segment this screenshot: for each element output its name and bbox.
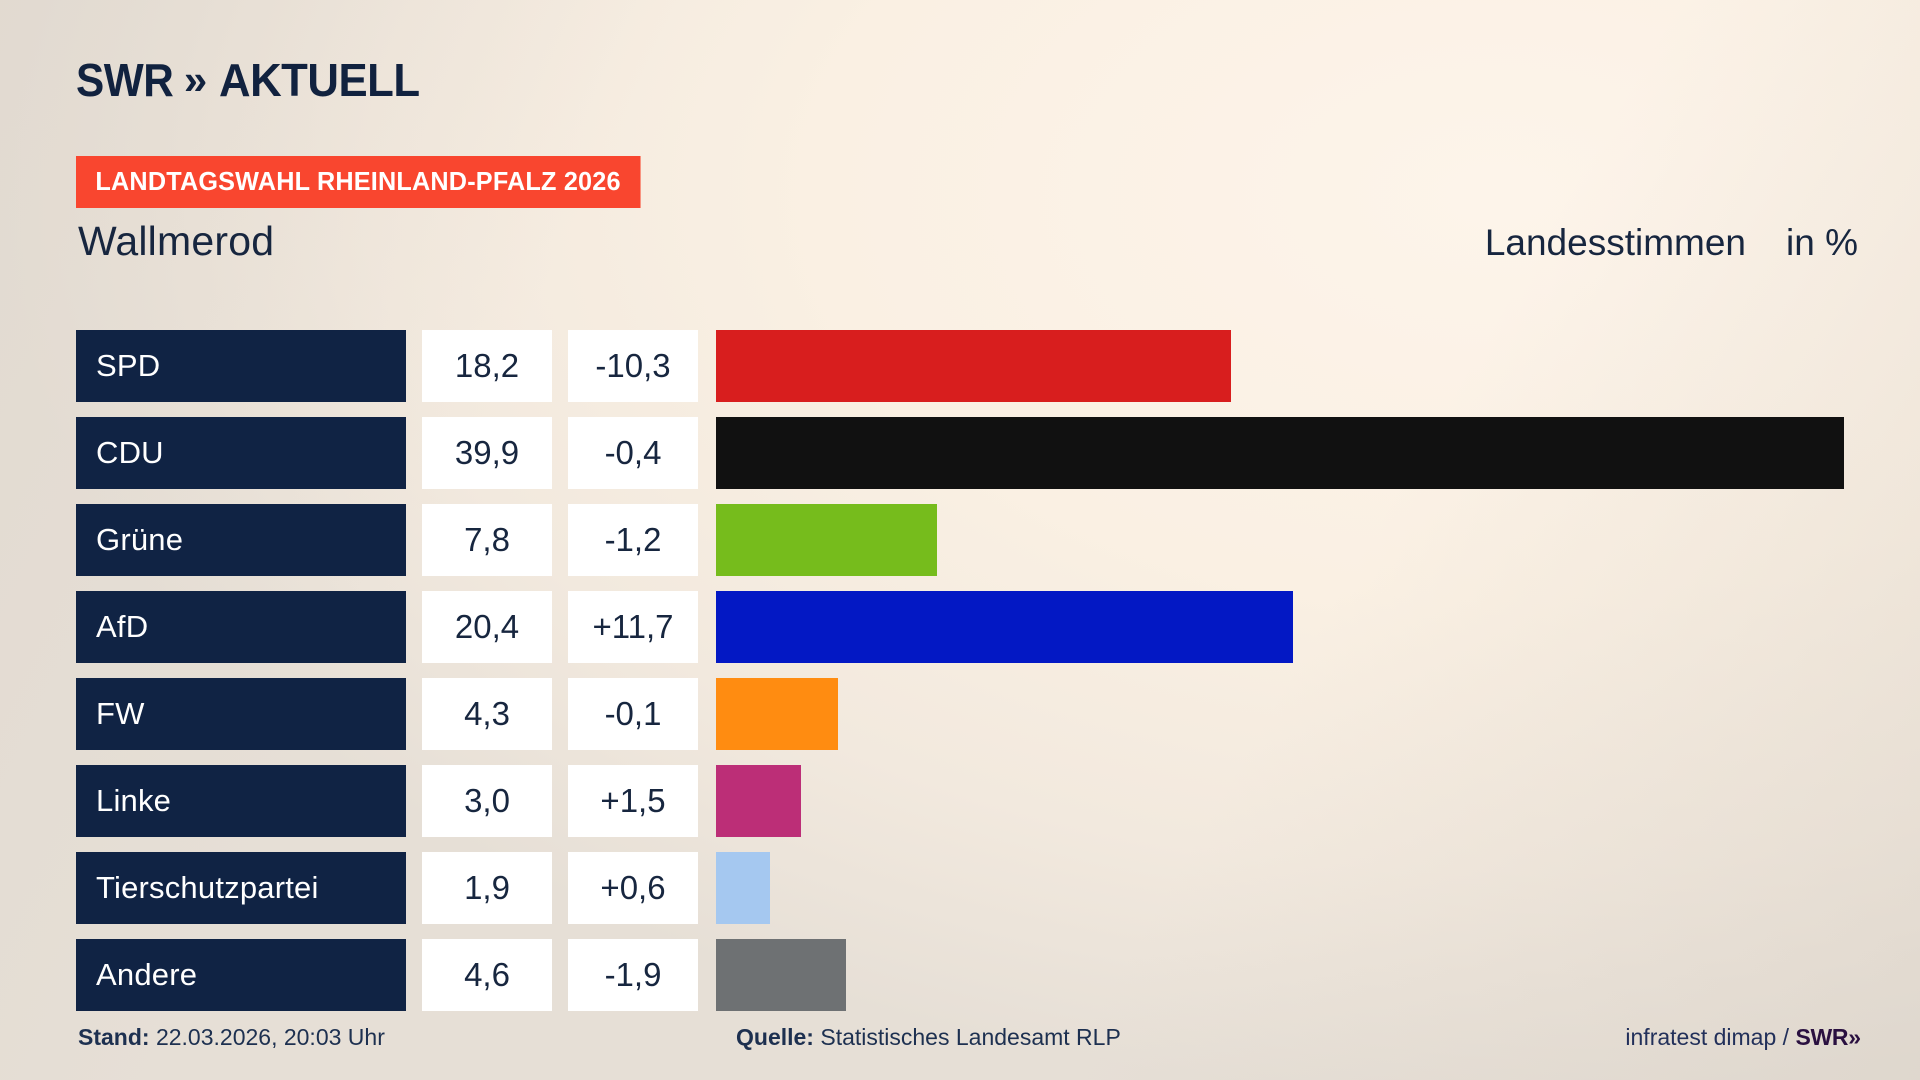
table-row: Tierschutzpartei1,9+0,6 — [76, 852, 1844, 924]
party-bar — [716, 417, 1844, 489]
party-result-value: 39,9 — [422, 417, 552, 489]
credit-text: infratest dimap / SWR» — [1625, 1024, 1858, 1051]
party-result-change: -1,2 — [568, 504, 698, 576]
party-name: Andere — [76, 939, 406, 1011]
party-result-change: +1,5 — [568, 765, 698, 837]
party-name: AfD — [76, 591, 406, 663]
bar-track — [716, 504, 1844, 576]
party-name: Grüne — [76, 504, 406, 576]
party-bar — [716, 765, 801, 837]
party-result-value: 18,2 — [422, 330, 552, 402]
infographic-canvas: SWR » AKTUELL LANDTAGSWAHL RHEINLAND-PFA… — [0, 0, 1920, 1080]
credit-agency: infratest dimap / — [1625, 1024, 1789, 1050]
party-bar — [716, 852, 770, 924]
table-row: Andere4,6-1,9 — [76, 939, 1844, 1011]
table-row: AfD20,4+11,7 — [76, 591, 1844, 663]
party-result-change: -0,1 — [568, 678, 698, 750]
swr-aktuell-logo: SWR » AKTUELL — [76, 54, 430, 106]
party-name: Linke — [76, 765, 406, 837]
stand-label: Stand: — [78, 1024, 150, 1050]
table-row: CDU39,9-0,4 — [76, 417, 1844, 489]
chart-caption: Landesstimmen in % — [1485, 222, 1858, 264]
party-bar — [716, 939, 846, 1011]
swr-wordmark: SWR — [76, 53, 173, 107]
stand-text: Stand: 22.03.2026, 20:03 Uhr — [78, 1024, 385, 1051]
footer: Stand: 22.03.2026, 20:03 Uhr Quelle: Sta… — [0, 1024, 1920, 1064]
party-name: FW — [76, 678, 406, 750]
table-row: Linke3,0+1,5 — [76, 765, 1844, 837]
party-result-value: 1,9 — [422, 852, 552, 924]
bar-track — [716, 417, 1844, 489]
results-table: SPD18,2-10,3CDU39,9-0,4Grüne7,8-1,2AfD20… — [76, 330, 1844, 1011]
party-name: SPD — [76, 330, 406, 402]
bar-track — [716, 765, 1844, 837]
bar-track — [716, 591, 1844, 663]
quelle-label: Quelle: — [736, 1024, 814, 1050]
bar-track — [716, 330, 1844, 402]
party-result-value: 4,6 — [422, 939, 552, 1011]
party-result-value: 4,3 — [422, 678, 552, 750]
quelle-value: Statistisches Landesamt RLP — [820, 1024, 1120, 1050]
party-bar — [716, 330, 1231, 402]
bar-track — [716, 678, 1844, 750]
table-row: SPD18,2-10,3 — [76, 330, 1844, 402]
bar-track — [716, 852, 1844, 924]
party-result-change: -1,9 — [568, 939, 698, 1011]
credit-swr: SWR» — [1795, 1024, 1858, 1050]
party-result-value: 20,4 — [422, 591, 552, 663]
unit-label: in % — [1786, 222, 1858, 264]
quelle-text: Quelle: Statistisches Landesamt RLP — [736, 1024, 1121, 1051]
party-name: CDU — [76, 417, 406, 489]
party-result-change: -0,4 — [568, 417, 698, 489]
party-bar — [716, 591, 1293, 663]
party-result-value: 3,0 — [422, 765, 552, 837]
chevron-double-right-icon: » — [1848, 1024, 1858, 1050]
party-bar — [716, 504, 937, 576]
chevron-double-right-icon: » — [184, 59, 203, 101]
party-result-change: +11,7 — [568, 591, 698, 663]
party-name: Tierschutzpartei — [76, 852, 406, 924]
credit-swr-wordmark: SWR — [1795, 1024, 1848, 1050]
election-badge: LANDTAGSWAHL RHEINLAND-PFALZ 2026 — [76, 156, 640, 208]
party-result-change: -10,3 — [568, 330, 698, 402]
party-result-change: +0,6 — [568, 852, 698, 924]
table-row: Grüne7,8-1,2 — [76, 504, 1844, 576]
stand-value: 22.03.2026, 20:03 Uhr — [156, 1024, 385, 1050]
party-result-value: 7,8 — [422, 504, 552, 576]
bar-track — [716, 939, 1844, 1011]
party-bar — [716, 678, 838, 750]
table-row: FW4,3-0,1 — [76, 678, 1844, 750]
vote-type-label: Landesstimmen — [1485, 222, 1746, 264]
aktuell-wordmark: AKTUELL — [219, 53, 420, 107]
location-title: Wallmerod — [78, 218, 274, 265]
